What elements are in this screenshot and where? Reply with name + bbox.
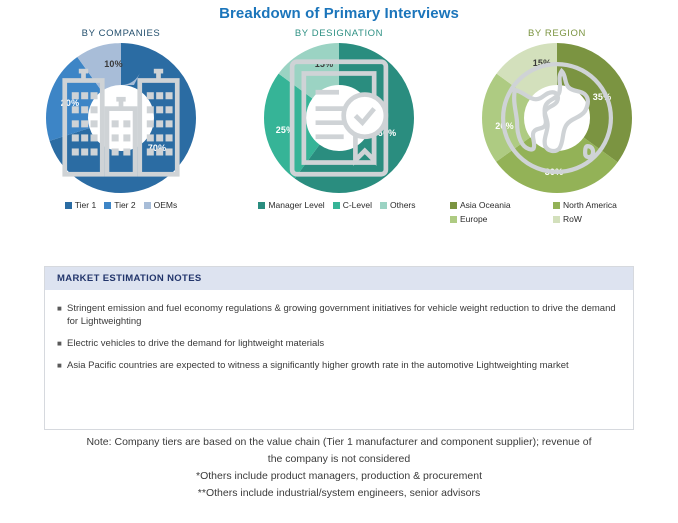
legend-label: North America xyxy=(563,199,617,211)
legend-item-asia-oceania[interactable]: Asia Oceania xyxy=(450,199,545,211)
pct-label-europe: 20% xyxy=(495,121,514,131)
legend-item-row[interactable]: RoW xyxy=(553,213,648,225)
legends-row: Tier 1 Tier 2 OEMs Manager Level C-Level… xyxy=(0,193,678,225)
chart-by-region: BY REGION 35% 30% 20% 15% xyxy=(450,28,664,193)
footer-notes: Note: Company tiers are based on the val… xyxy=(0,434,678,502)
square-bullet-icon: ■ xyxy=(57,302,67,315)
pct-label-north-america: 30% xyxy=(545,167,564,177)
chart-title-companies: BY COMPANIES xyxy=(82,28,161,39)
footer-line-4: **Others include industrial/system engin… xyxy=(0,485,678,502)
pct-label-c-level: 25% xyxy=(276,125,295,135)
list-item: ■ Stringent emission and fuel economy re… xyxy=(57,302,617,328)
square-bullet-icon: ■ xyxy=(57,359,67,372)
legend-region: Asia Oceania North America Europe RoW xyxy=(446,199,664,225)
legend-designation: Manager Level C-Level Others xyxy=(230,199,444,225)
legend-item-tier-2[interactable]: Tier 2 xyxy=(104,199,135,211)
legend-label: C-Level xyxy=(343,199,372,211)
chart-title-designation: BY DESIGNATION xyxy=(295,28,383,39)
pct-label-tier2: 20% xyxy=(61,98,80,108)
pct-label-asia-oceania: 35% xyxy=(593,92,612,102)
legend-label: RoW xyxy=(563,213,582,225)
donut-charts-row: BY COMPANIES 70% 20% 10% xyxy=(0,23,678,193)
legend-item-north-america[interactable]: North America xyxy=(553,199,648,211)
pct-label-designation-others: 15% xyxy=(315,59,334,69)
pct-label-tier1: 70% xyxy=(148,143,167,153)
chart-by-designation: BY DESIGNATION 60% 25% 15% xyxy=(232,28,446,193)
legend-swatch-icon xyxy=(450,202,457,209)
legend-swatch-icon xyxy=(450,216,457,223)
square-bullet-icon: ■ xyxy=(57,337,67,350)
pct-label-oems: 10% xyxy=(104,59,123,69)
page-title: Breakdown of Primary Interviews xyxy=(0,0,678,23)
legend-swatch-icon xyxy=(553,216,560,223)
legend-item-c-level[interactable]: C-Level xyxy=(333,199,372,211)
legend-item-designation-others[interactable]: Others xyxy=(380,199,416,211)
legend-swatch-icon xyxy=(65,202,72,209)
legend-label: Asia Oceania xyxy=(460,199,511,211)
donut-designation: 60% 25% 15% xyxy=(264,43,414,193)
legend-item-oems[interactable]: OEMs xyxy=(144,199,178,211)
chart-by-companies: BY COMPANIES 70% 20% 10% xyxy=(14,28,228,193)
pct-label-row: 15% xyxy=(533,58,552,68)
pct-label-manager-level: 60% xyxy=(378,128,397,138)
legend-swatch-icon xyxy=(144,202,151,209)
chart-title-region: BY REGION xyxy=(528,28,586,39)
note-text: Electric vehicles to drive the demand fo… xyxy=(67,337,617,350)
legend-swatch-icon xyxy=(333,202,340,209)
note-text: Stringent emission and fuel economy regu… xyxy=(67,302,617,328)
donut-companies: 70% 20% 10% xyxy=(46,43,196,193)
legend-swatch-icon xyxy=(553,202,560,209)
footer-line-1: Note: Company tiers are based on the val… xyxy=(0,434,678,451)
legend-item-tier-1[interactable]: Tier 1 xyxy=(65,199,96,211)
donut-designation-svg xyxy=(264,43,414,193)
legend-label: Tier 2 xyxy=(114,199,135,211)
legend-label: Tier 1 xyxy=(75,199,96,211)
legend-companies: Tier 1 Tier 2 OEMs xyxy=(14,199,228,225)
notes-panel-header: MARKET ESTIMATION NOTES xyxy=(45,267,633,290)
legend-item-manager-level[interactable]: Manager Level xyxy=(258,199,324,211)
market-estimation-notes-panel: MARKET ESTIMATION NOTES ■ Stringent emis… xyxy=(44,266,634,430)
footer-line-2: the company is not considered xyxy=(0,451,678,468)
list-item: ■ Electric vehicles to drive the demand … xyxy=(57,337,617,350)
list-item: ■ Asia Pacific countries are expected to… xyxy=(57,359,617,372)
legend-label: Manager Level xyxy=(268,199,324,211)
note-text: Asia Pacific countries are expected to w… xyxy=(67,359,617,372)
legend-label: Europe xyxy=(460,213,487,225)
notes-panel-body: ■ Stringent emission and fuel economy re… xyxy=(45,290,633,372)
legend-item-europe[interactable]: Europe xyxy=(450,213,545,225)
donut-region: 35% 30% 20% 15% xyxy=(482,43,632,193)
legend-swatch-icon xyxy=(104,202,111,209)
legend-label: Others xyxy=(390,199,416,211)
legend-swatch-icon xyxy=(258,202,265,209)
footer-line-3: *Others include product managers, produc… xyxy=(0,468,678,485)
legend-swatch-icon xyxy=(380,202,387,209)
legend-label: OEMs xyxy=(154,199,178,211)
